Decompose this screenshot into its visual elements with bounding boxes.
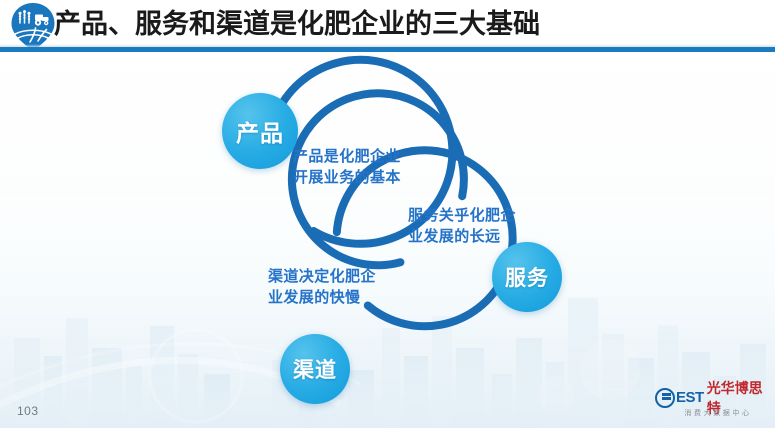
node-badge-product-label: 产品	[236, 114, 284, 148]
node-badge-service-label: 服务	[505, 262, 549, 292]
page-number: 103	[17, 404, 39, 418]
best-circle-logo-icon	[655, 388, 675, 408]
brand-logo: EST 光华博思特 消费大数据中心	[655, 388, 767, 420]
brand-subtitle: 消费大数据中心	[655, 408, 767, 418]
node-badge-service[interactable]: 服务	[492, 242, 562, 312]
slide-canvas: 产品、服务和渠道是化肥企业的三大基础 产品 服务 渠道 产品是化肥企业开展业务的…	[0, 0, 775, 428]
node-badge-channel-label: 渠道	[293, 354, 337, 384]
node-description-service: 服务关乎化肥企业发展的长远	[408, 205, 524, 247]
node-badge-product[interactable]: 产品	[222, 93, 298, 169]
three-rings-diagram	[0, 0, 775, 428]
brand-latin-text: EST	[676, 389, 704, 406]
node-description-product: 产品是化肥企业开展业务的基本	[293, 146, 401, 188]
node-badge-channel[interactable]: 渠道	[280, 334, 350, 404]
node-description-channel: 渠道决定化肥企业发展的快慢	[268, 266, 380, 308]
